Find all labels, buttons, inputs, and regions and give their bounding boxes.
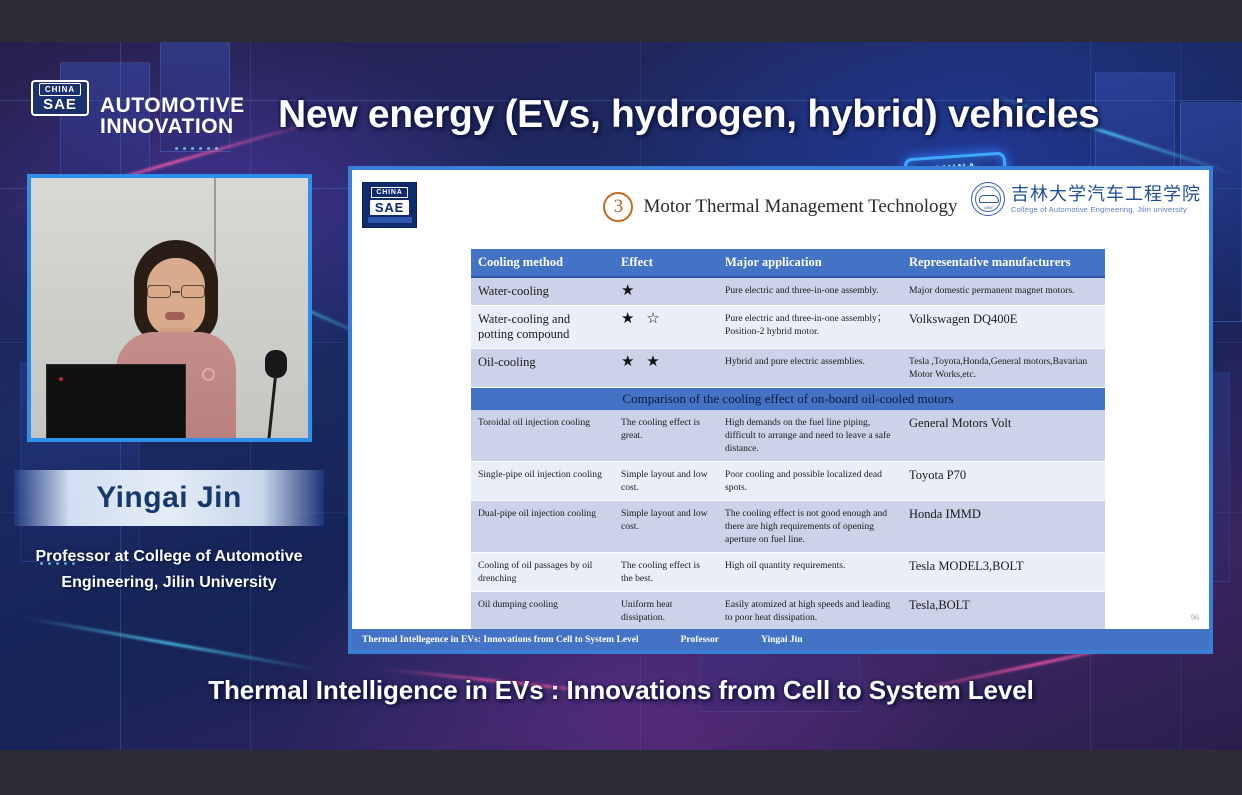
table-section-band: Comparison of the cooling effect of on-b… (471, 388, 1105, 410)
cell-effect: Simple layout and low cost. (614, 501, 718, 553)
cell-cooling-method: Oil-cooling (471, 349, 614, 388)
letterbox-bottom (0, 750, 1242, 795)
footer-role: Professor (681, 635, 719, 645)
china-sae-logo: CHINA SAE (31, 80, 89, 116)
cell-effect: ★ ★ (614, 349, 718, 388)
car-glyph-icon (979, 195, 999, 203)
event-header: CHINA SAE AUTOMOTIVE INNOVATION New ener… (0, 42, 1242, 147)
cell-effect: Simple layout and low cost. (614, 462, 718, 501)
effect-stars: ★ ★ (621, 355, 711, 370)
speaker-role-line2: Engineering, Jilin University (14, 570, 324, 596)
letterbox-top (0, 0, 1242, 42)
cell-effect: Uniform heat dissipation. (614, 592, 718, 631)
cell-effect: ★ ☆ (614, 306, 718, 349)
page-title: New energy (EVs, hydrogen, hybrid) vehic… (278, 93, 1100, 137)
glasses-icon (146, 285, 206, 298)
column-header-effect: Effect (614, 249, 718, 277)
broadcast-screen: CHINA SAE CHINA SAE AUTOMOTIVE INNOVATIO… (0, 0, 1242, 795)
cell-effect: ★ (614, 277, 718, 306)
cell-effect: The cooling effect is the best. (614, 553, 718, 592)
table-row: Oil-cooling★ ★Hybrid and pure electric a… (471, 349, 1105, 388)
table-row: Dual-pipe oil injection coolingSimple la… (471, 501, 1105, 553)
speaker-video-feed[interactable] (27, 174, 312, 442)
brooch-icon (202, 368, 215, 381)
section-title: Motor Thermal Management Technology (643, 196, 957, 218)
cell-major-application: The cooling effect is not good enough an… (718, 501, 902, 553)
china-sae-logo-line1: CHINA (39, 83, 81, 96)
cell-manufacturers: Toyota P70 (902, 462, 1105, 501)
cell-major-application: High oil quantity requirements. (718, 553, 902, 592)
slide-content: CHINA SAE 3 Motor Thermal Management Tec… (352, 170, 1209, 650)
cell-cooling-method: Water-cooling and potting compound (471, 306, 614, 349)
cell-cooling-method: Dual-pipe oil injection cooling (471, 501, 614, 553)
cell-manufacturers: General Motors Volt (902, 410, 1105, 462)
footer-title: Thermal Intellegence in EVs: Innovations… (362, 635, 639, 645)
effect-stars: ★ ☆ (621, 312, 711, 327)
cell-manufacturers: Major domestic permanent magnet motors. (902, 277, 1105, 306)
cell-major-application: Pure electric and three-in-one assembly. (718, 277, 902, 306)
column-header-representative-manufacturers: Representative manufacturers (902, 249, 1105, 277)
table-row: Water-cooling and potting compound★ ☆Pur… (471, 306, 1105, 349)
table-row: Toroidal oil injection coolingThe coolin… (471, 410, 1105, 462)
table-row: Oil dumping coolingUniform heat dissipat… (471, 592, 1105, 631)
section-number-badge: 3 (603, 192, 633, 222)
speaker-role-line1: Professor at College of Automotive (14, 544, 324, 570)
university-name-chinese: 吉林大学汽车工程学院 (1011, 185, 1201, 205)
brand-line1: AUTOMOTIVE (100, 95, 245, 116)
slide-footer: Thermal Intellegence in EVs: Innovations… (352, 629, 1209, 650)
cell-cooling-method: Water-cooling (471, 277, 614, 306)
table-row: Water-cooling★Pure electric and three-in… (471, 277, 1105, 306)
cell-manufacturers: Tesla ,Toyota,Honda,General motors,Bavar… (902, 349, 1105, 388)
china-sae-logo-line2: SAE (43, 97, 77, 113)
cell-cooling-method: Toroidal oil injection cooling (471, 410, 614, 462)
column-header-cooling-method: Cooling method (471, 249, 614, 277)
table-header-row: Cooling method Effect Major application … (471, 249, 1105, 277)
cell-effect: The cooling effect is great. (614, 410, 718, 462)
university-name-english: College of Automotive Engineering, Jilin… (1011, 205, 1201, 214)
cell-manufacturers: Tesla,BOLT (902, 592, 1105, 631)
cell-cooling-method: Oil dumping cooling (471, 592, 614, 631)
cell-major-application: Easily atomized at high speeds and leadi… (718, 592, 902, 631)
speaker-name-block: Yingai Jin Professor at College of Autom… (14, 470, 324, 596)
presentation-slide[interactable]: CHINA SAE 3 Motor Thermal Management Tec… (348, 166, 1213, 654)
table-row: Single-pipe oil injection coolingSimple … (471, 462, 1105, 501)
cell-cooling-method: Cooling of oil passages by oil drenching (471, 553, 614, 592)
speaker-name: Yingai Jin (96, 481, 242, 515)
cell-manufacturers: Honda IMMD (902, 501, 1105, 553)
speaker-mouth (165, 312, 185, 320)
cooling-methods-table: Cooling method Effect Major application … (471, 249, 1105, 631)
automotive-innovation-wordmark: AUTOMOTIVE INNOVATION (100, 95, 245, 137)
session-caption: Thermal Intelligence in EVs : Innovation… (0, 675, 1242, 706)
university-seal-icon: 1955 (971, 182, 1005, 216)
section-band-label: Comparison of the cooling effect of on-b… (471, 388, 1105, 410)
cell-cooling-method: Single-pipe oil injection cooling (471, 462, 614, 501)
effect-stars: ★ (621, 284, 711, 299)
table-row: Cooling of oil passages by oil drenching… (471, 553, 1105, 592)
podium-laptop (46, 364, 186, 442)
footer-name: Yingai Jin (761, 635, 803, 645)
brand-line2: INNOVATION (100, 116, 245, 137)
cell-manufacturers: Volkswagen DQ400E (902, 306, 1105, 349)
cell-manufacturers: Tesla MODEL3,BOLT (902, 553, 1105, 592)
column-header-major-application: Major application (718, 249, 902, 277)
cell-major-application: Pure electric and three-in-one assembly；… (718, 306, 902, 349)
seal-year: 1955 (972, 205, 1004, 210)
university-logo-text: 吉林大学汽车工程学院 College of Automotive Enginee… (1011, 185, 1201, 214)
cell-major-application: Poor cooling and possible localized dead… (718, 462, 902, 501)
cell-major-application: High demands on the fuel line piping, di… (718, 410, 902, 462)
speaker-name-plate: Yingai Jin (14, 470, 324, 526)
slide-page-number: 96 (1191, 613, 1199, 622)
microphone-icon (265, 350, 287, 378)
speaker-role: Professor at College of Automotive Engin… (14, 544, 324, 596)
cell-major-application: Hybrid and pure electric assemblies. (718, 349, 902, 388)
jilin-university-logo: 1955 吉林大学汽车工程学院 College of Automotive En… (971, 182, 1201, 216)
